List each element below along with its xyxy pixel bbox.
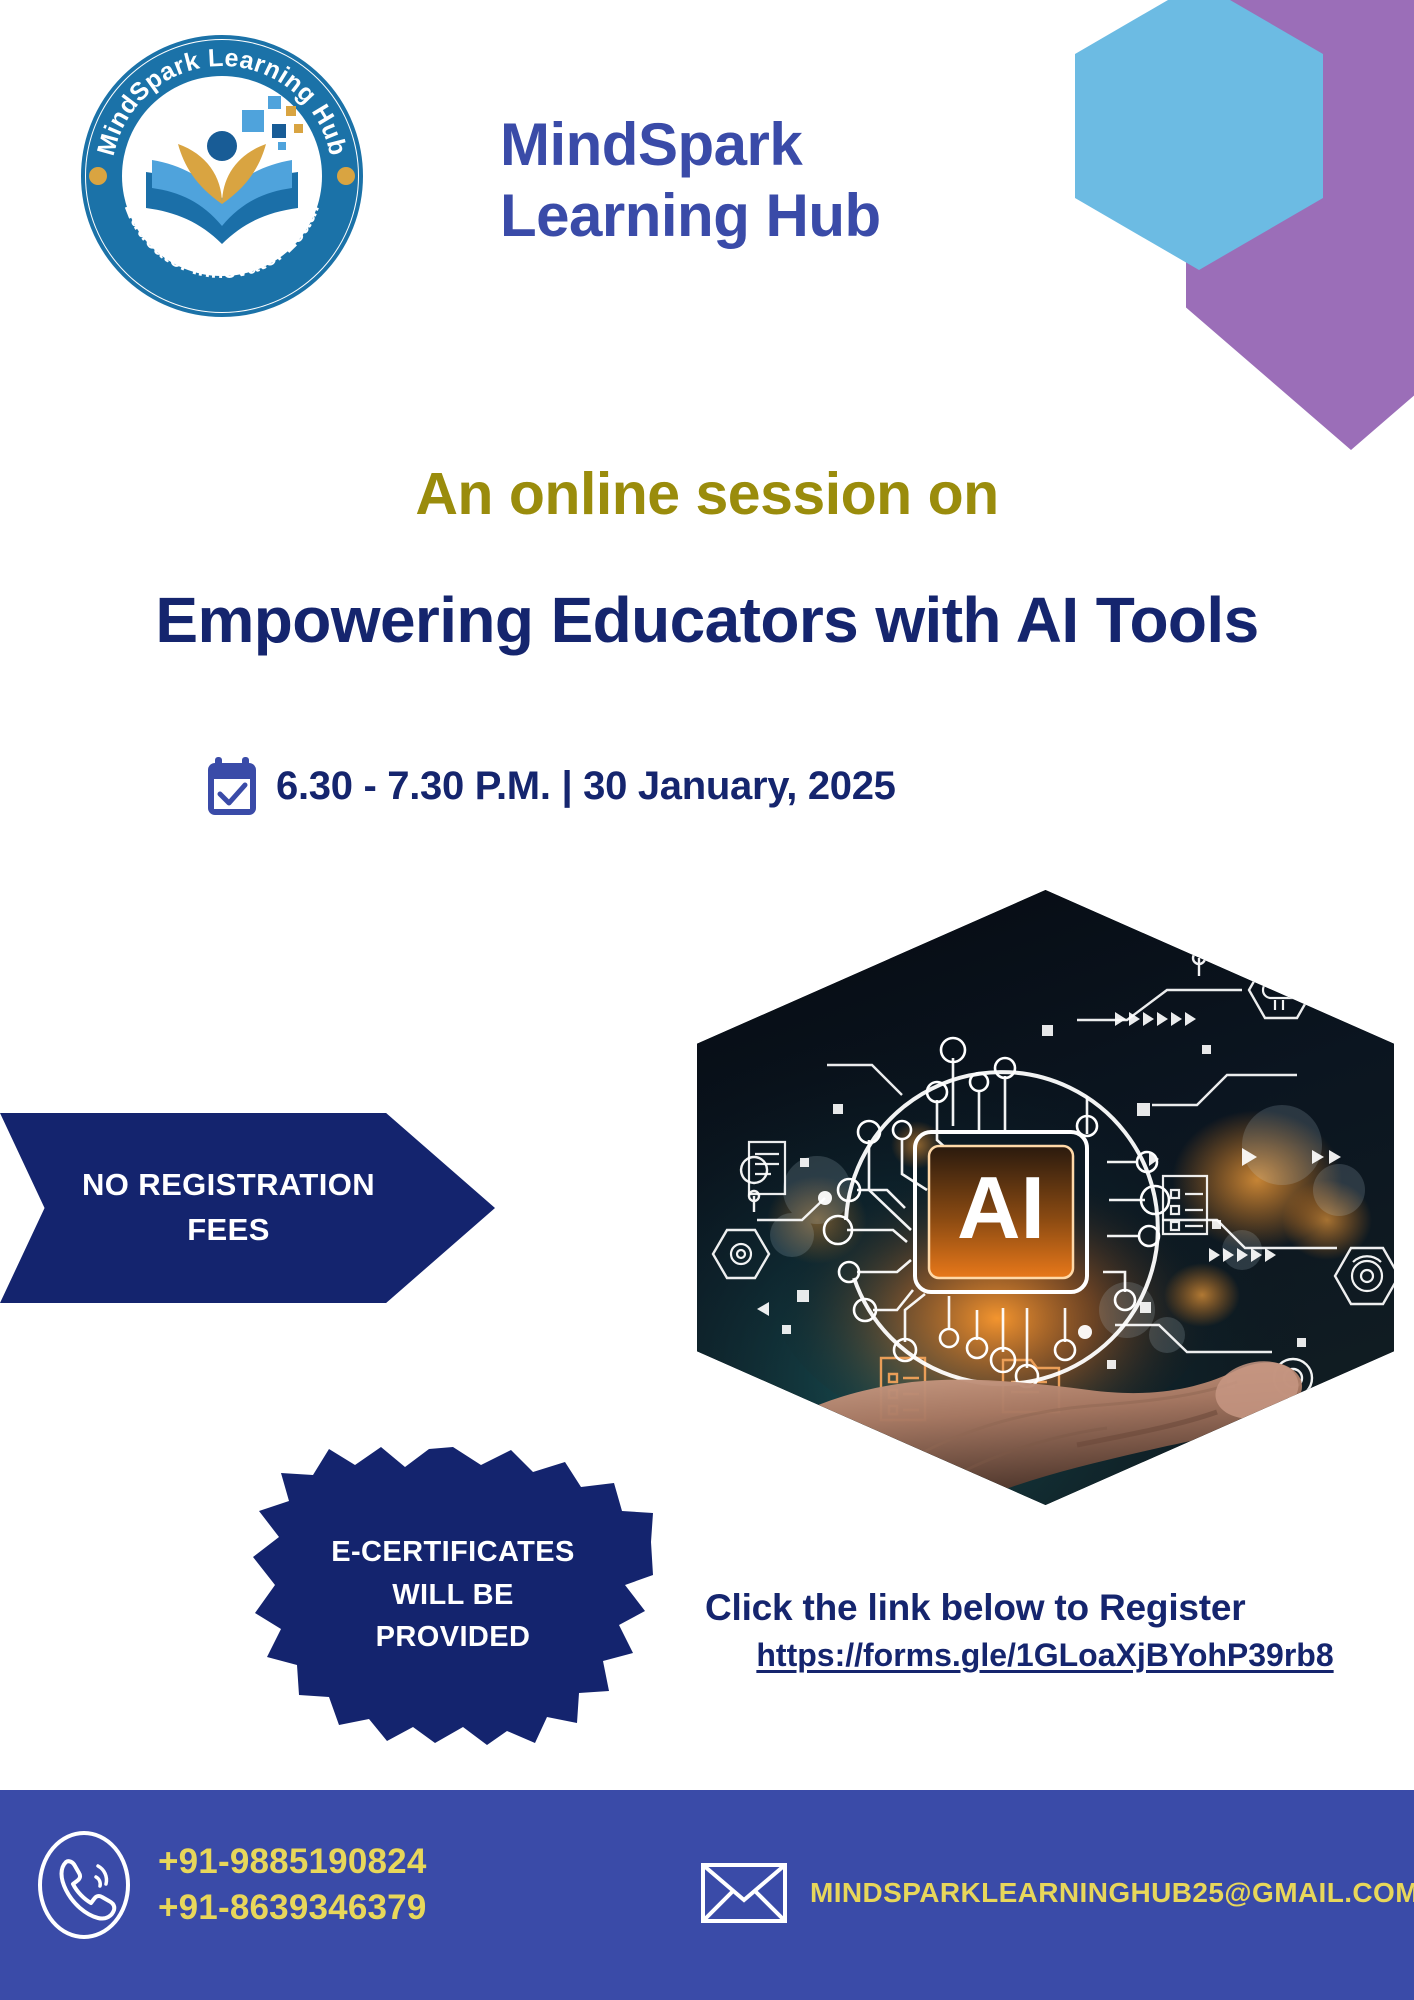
- ai-chip-label: AI: [957, 1158, 1045, 1257]
- title-line-2: Learning Hub: [500, 181, 1060, 252]
- logo-mark: MindSpark Learning Hub Educate. Innovate…: [72, 26, 372, 326]
- ai-hero-image: AI: [697, 890, 1394, 1505]
- cert-line-2: WILL BE: [392, 1574, 513, 1617]
- fees-line-2: FEES: [82, 1208, 375, 1253]
- email-contact-group: MINDSPARKLEARNINGHUB25@GMAIL.COM: [700, 1862, 1414, 1924]
- register-link[interactable]: https://forms.gle/1GLoaXjBYohP39rb8: [705, 1637, 1385, 1674]
- phone-contact-group: +91-9885190824 +91-8639346379: [36, 1830, 426, 1940]
- page-title: MindSpark Learning Hub: [500, 110, 1060, 252]
- cert-line-3: PROVIDED: [376, 1616, 531, 1659]
- email-address: MINDSPARKLEARNINGHUB25@GMAIL.COM: [810, 1877, 1414, 1909]
- fees-banner-text: NO REGISTRATION FEES: [82, 1163, 375, 1253]
- datetime-row: 6.30 - 7.30 P.M. | 30 January, 2025: [206, 755, 896, 817]
- calendar-check-icon: [206, 755, 258, 817]
- event-datetime: 6.30 - 7.30 P.M. | 30 January, 2025: [276, 764, 896, 809]
- phone-numbers: +91-9885190824 +91-8639346379: [158, 1842, 426, 1928]
- no-registration-fees-banner: NO REGISTRATION FEES: [0, 1113, 495, 1303]
- phone-number-2: +91-8639346379: [158, 1888, 426, 1928]
- register-block: Click the link below to Register https:/…: [705, 1587, 1385, 1674]
- fees-line-1: NO REGISTRATION: [82, 1163, 375, 1208]
- cert-badge-text: E-CERTIFICATES WILL BE PROVIDED: [253, 1445, 653, 1745]
- phone-call-icon: [36, 1830, 132, 1940]
- phone-number-1: +91-9885190824: [158, 1842, 426, 1882]
- footer-contact-band: +91-9885190824 +91-8639346379 MINDSPARKL…: [0, 1790, 1414, 2000]
- title-line-1: MindSpark: [500, 110, 1060, 181]
- brand-logo: MindSpark Learning Hub Educate. Innovate…: [72, 26, 372, 326]
- ai-hero-illustration: AI: [697, 890, 1394, 1505]
- envelope-icon: [700, 1862, 788, 1924]
- session-subtitle: An online session on: [0, 460, 1414, 528]
- session-headline: Empowering Educators with AI Tools: [0, 583, 1414, 657]
- register-heading: Click the link below to Register: [705, 1587, 1385, 1629]
- e-certificates-badge: E-CERTIFICATES WILL BE PROVIDED: [253, 1445, 653, 1745]
- cert-line-1: E-CERTIFICATES: [331, 1531, 575, 1574]
